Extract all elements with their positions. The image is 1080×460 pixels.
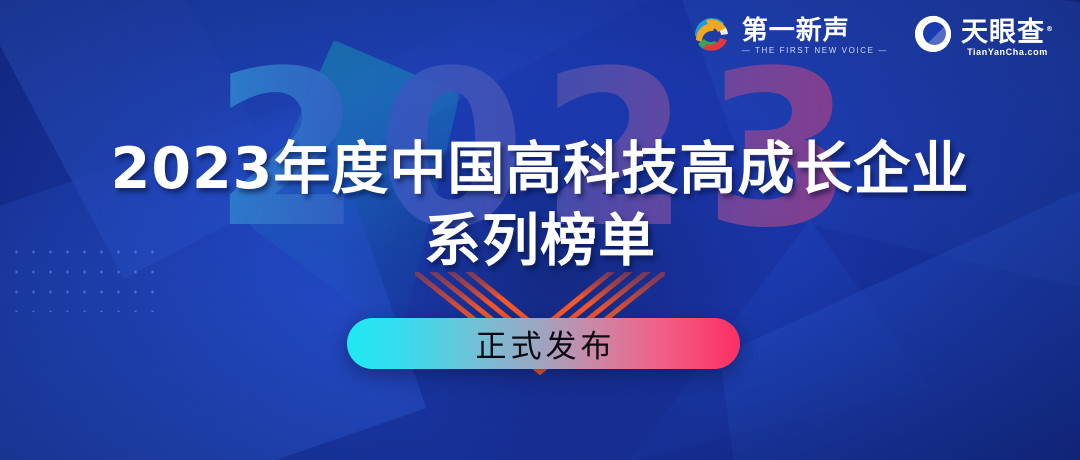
release-status-button[interactable]: 正式发布 [347, 318, 740, 369]
tianyancha-tagline: TianYanCha.com [961, 47, 1054, 58]
poster-banner: 2023 2023年度中国高科技高成长企业 系列榜单 正式发布 [0, 0, 1080, 460]
diyixinsheng-tagline: — THE FIRST NEW VOICE — [742, 45, 888, 56]
tianyancha-name-text: 天眼查 [961, 17, 1045, 48]
logo-bar: 第一新声 — THE FIRST NEW VOICE — [691, 14, 1054, 59]
headline-line-2: 系列榜单 [0, 205, 1080, 277]
trademark-icon: ® [1046, 25, 1054, 33]
tianyancha-eye-icon [914, 15, 952, 58]
tianyancha-name: 天眼查® [961, 15, 1054, 47]
diyixinsheng-swirl-icon [691, 14, 733, 59]
logo-tianyancha[interactable]: 天眼查® TianYanCha.com [914, 15, 1054, 58]
page-title: 2023年度中国高科技高成长企业 系列榜单 [0, 133, 1080, 277]
release-status-label: 正式发布 [472, 321, 616, 366]
diyixinsheng-text: 第一新声 — THE FIRST NEW VOICE — [742, 17, 888, 56]
headline-line-1: 2023年度中国高科技高成长企业 [111, 136, 970, 202]
tianyancha-text: 天眼查® TianYanCha.com [961, 15, 1054, 58]
diyixinsheng-name: 第一新声 [742, 17, 888, 45]
logo-diyixinsheng[interactable]: 第一新声 — THE FIRST NEW VOICE — [691, 14, 888, 59]
